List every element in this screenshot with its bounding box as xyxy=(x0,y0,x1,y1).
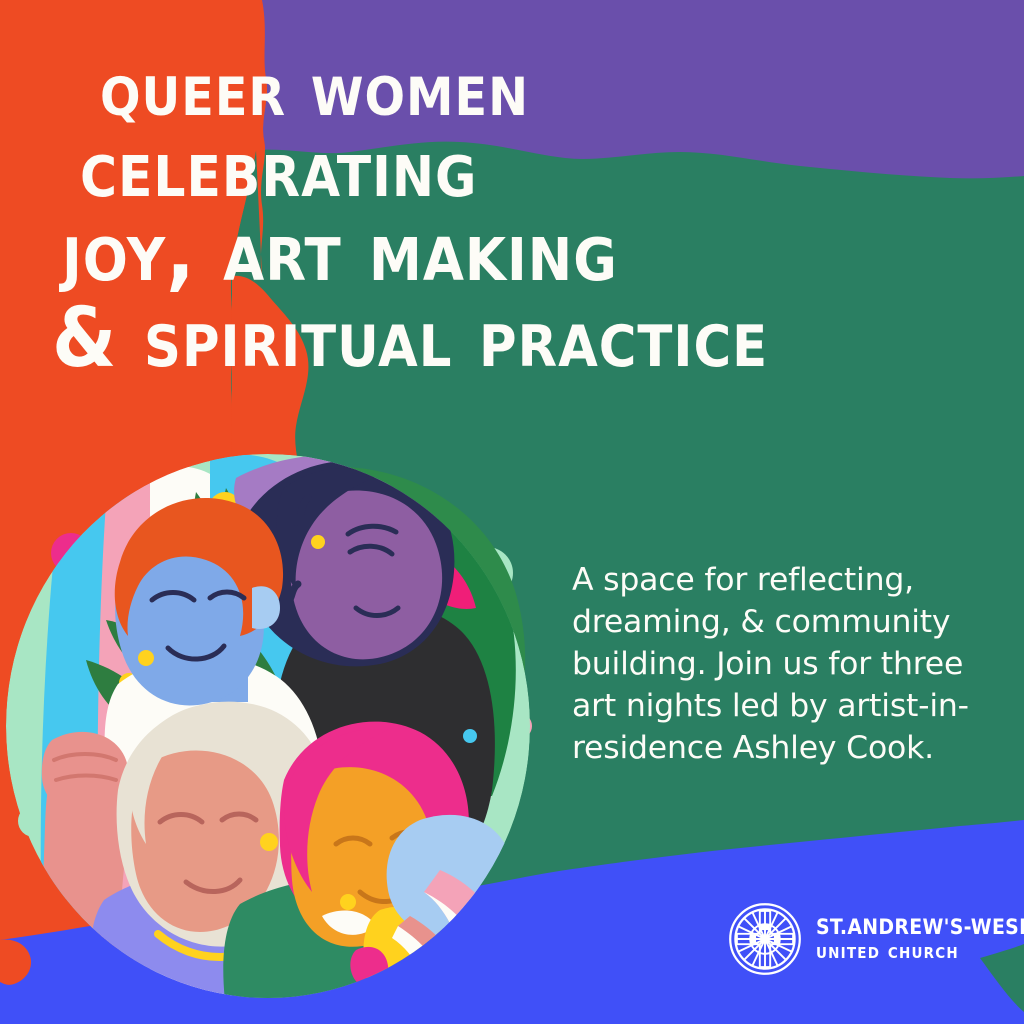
f1-earring xyxy=(138,650,154,666)
poster-canvas: Queer Women Celebrating Joy, Art Making … xyxy=(0,0,1024,1024)
stripe-pink-a xyxy=(424,870,518,1010)
church-logo-lockup: ST.ANDREW'S-WESLEY United Church xyxy=(728,902,1024,976)
fist xyxy=(42,732,129,814)
f4-earring xyxy=(340,894,356,910)
logo-line-1: ST.ANDREW'S-WESLEY xyxy=(816,915,1024,939)
illustration-circle-clip xyxy=(6,453,530,1024)
raised-fist-arm xyxy=(42,732,129,1012)
wedge-orange-lower-right xyxy=(466,900,528,1010)
celtic-cross-roundel-icon xyxy=(728,902,802,976)
logo-line-2: United Church xyxy=(816,939,1024,963)
f2-earring xyxy=(311,535,325,549)
f3-earring xyxy=(260,833,278,851)
dot-cyan-edge xyxy=(463,729,477,743)
body-copy: A space for reflecting, dreaming, & comm… xyxy=(572,560,992,769)
four-women-embracing-illustration xyxy=(0,0,1024,1024)
church-logo-wordmark: ST.ANDREW'S-WESLEY United Church xyxy=(816,915,1024,964)
f4-hand-magenta-2 xyxy=(390,993,428,1024)
